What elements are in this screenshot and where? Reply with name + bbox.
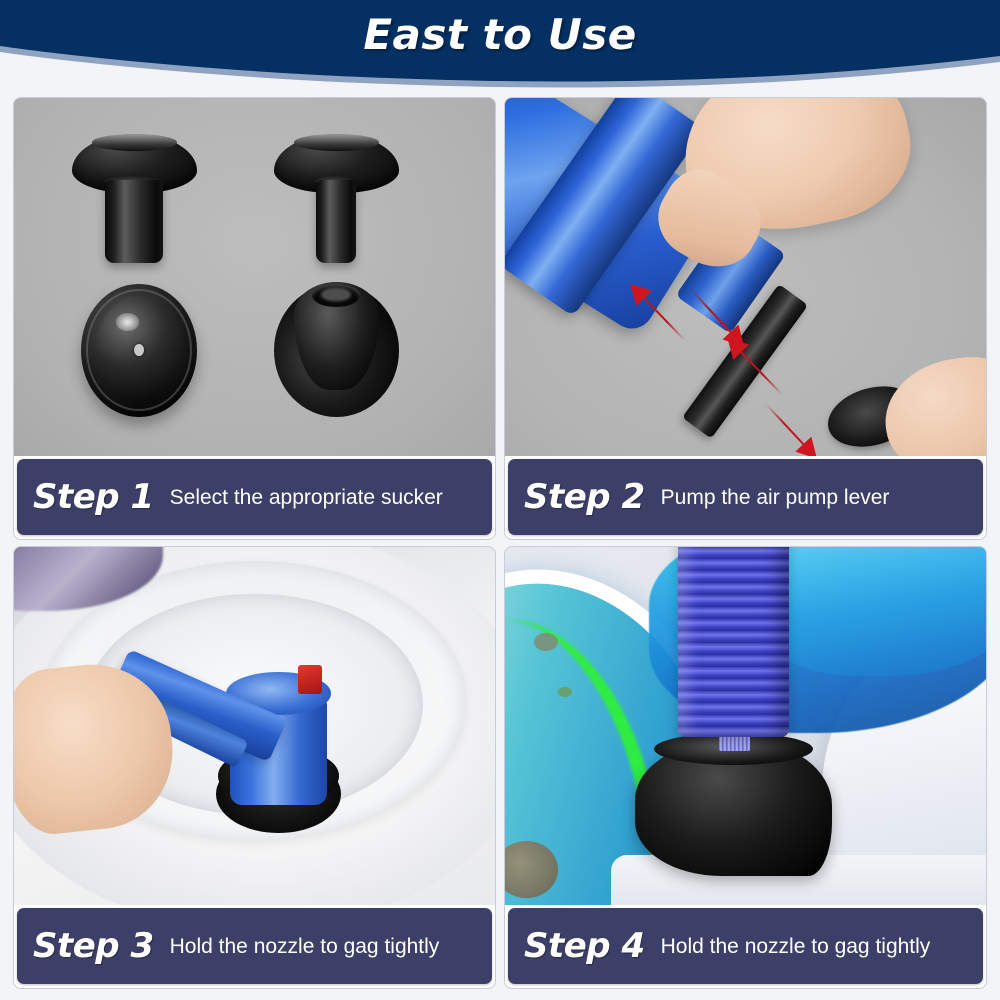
step-2-description: Pump the air pump lever (661, 485, 890, 510)
step-1-label-bar: Step 1 Select the appropriate sucker (17, 459, 492, 535)
pump-body (678, 547, 789, 737)
page-title: East to Use (0, 10, 1000, 59)
step-card-4[interactable]: Step 4 Hold the nozzle to gag tightly (505, 547, 986, 988)
pump-release-valve (298, 665, 322, 694)
step-3-label-bar: Step 3 Hold the nozzle to gag tightly (17, 908, 492, 984)
step-2-image (505, 98, 986, 456)
step-4-image (505, 547, 986, 905)
pump-lever-photo (505, 98, 986, 456)
infographic-page: East to Use (0, 0, 1000, 1000)
step-4-number: Step 4 (524, 926, 645, 966)
sucker-body (105, 180, 163, 262)
header-banner: East to Use (0, 0, 1000, 88)
step-2-label-bar: Step 2 Pump the air pump lever (508, 459, 983, 535)
sucker-center-hole (134, 344, 144, 356)
step-card-2[interactable]: Step 2 Pump the air pump lever (505, 98, 986, 539)
toilet-bowl-photo (14, 547, 495, 905)
suckers-illustration (14, 98, 495, 456)
step-1-description: Select the appropriate sucker (170, 485, 443, 510)
water-splash (755, 547, 986, 676)
step-4-label-bar: Step 4 Hold the nozzle to gag tightly (508, 908, 983, 984)
sucker-side-view-small (274, 134, 399, 263)
step-2-number: Step 2 (524, 477, 645, 517)
step-card-3[interactable]: Step 3 Hold the nozzle to gag tightly (14, 547, 495, 988)
hand-lower (878, 350, 986, 456)
step-3-description: Hold the nozzle to gag tightly (170, 934, 440, 959)
sucker-highlight (116, 313, 139, 330)
sucker-body (316, 180, 356, 262)
step-3-image (14, 547, 495, 905)
drain-cross-section-illustration (505, 547, 986, 905)
sucker-bottom-view (81, 284, 196, 416)
debris-particle (534, 633, 558, 651)
step-3-number: Step 3 (33, 926, 154, 966)
sucker-angled-view (274, 284, 399, 416)
step-1-number: Step 1 (33, 477, 154, 517)
motion-arrow-down-2 (759, 397, 824, 456)
step-card-1[interactable]: Step 1 Select the appropriate sucker (14, 98, 495, 539)
sucker-side-view-large (72, 134, 197, 263)
step-1-image (14, 98, 495, 456)
steps-grid: Step 1 Select the appropriate sucker (14, 98, 986, 988)
sucker-cap-rim (294, 134, 379, 151)
step-4-description: Hold the nozzle to gag tightly (661, 934, 931, 959)
sucker-cap-rim (92, 134, 177, 151)
